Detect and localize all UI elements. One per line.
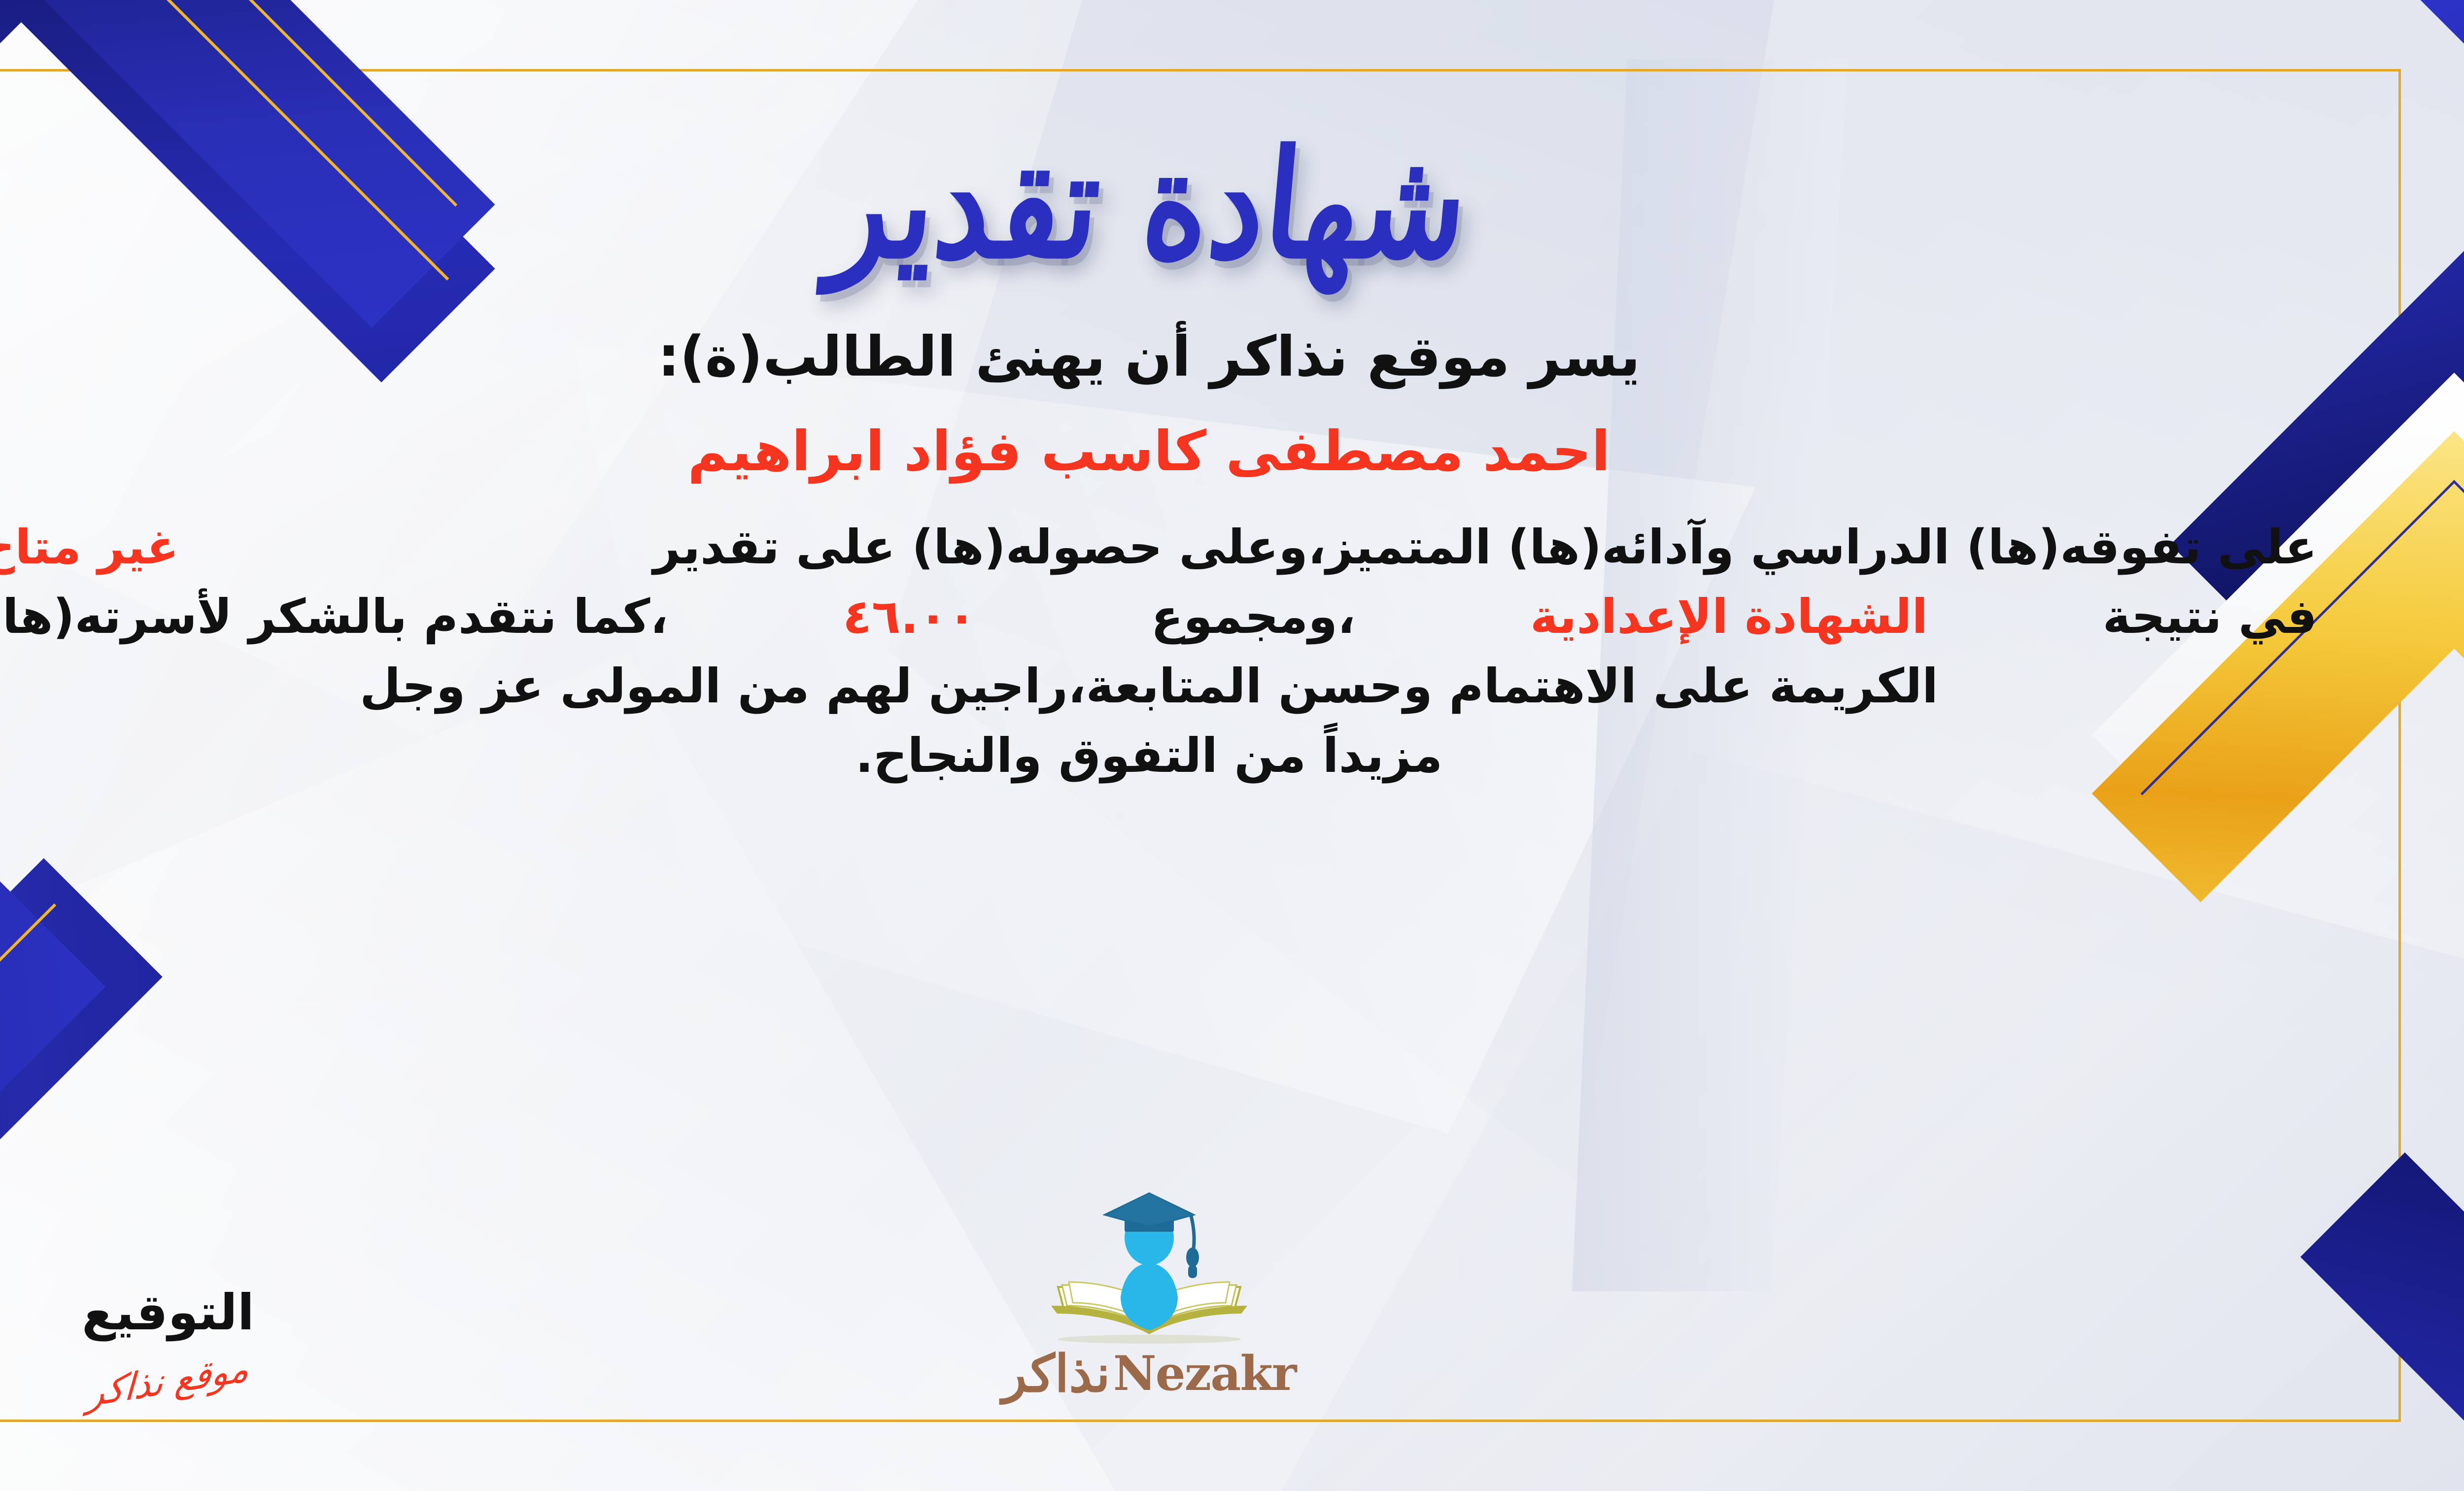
graduate-book-logo-icon [1033,1182,1265,1345]
brand-latin: Nezakr [1113,1350,1296,1397]
body-paragraph: على تفوقه(ها) الدراسي وآدائه(ها) المتميز… [0,513,2317,791]
certificate-page: شهادة تقدير يسر موقع نذاكر أن يهنئ الطال… [0,0,2464,1491]
certificate-footer: التوقيع موقع نذاكر [0,1182,2317,1422]
student-name: احمد مصطفى كاسب فؤاد ابراهيم [687,417,1610,486]
body-line-4: مزيداً من التفوق والنجاح. [0,721,2317,791]
title-area: شهادة تقدير [0,104,2317,306]
body-line-2: في نتيجة الشهادة الإعدادية ،ومجموع ٤٦.٠٠… [0,582,2317,652]
body-line-1-text: على تفوقه(ها) الدراسي وآدائه(ها) المتميز… [653,513,2317,582]
total-value: ٤٦.٠٠ [843,582,976,652]
result-prefix: في نتيجة [2103,582,2317,652]
page-title: شهادة تقدير [824,131,1473,279]
body-line-2-end: ،كما نتقدم بالشكر لأسرته(ها) [0,582,668,652]
brand-wordmark: Nezakr نذاكر [1002,1348,1296,1399]
total-label: ،ومجموع [1151,582,1356,652]
brand-logo: Nezakr نذاكر [972,1182,1327,1399]
signature-label: التوقيع [82,1288,254,1337]
signature-mark: موقع نذاكر [86,1350,250,1413]
certificate-content: شهادة تقدير يسر موقع نذاكر أن يهنئ الطال… [0,69,2401,1422]
exam-name: الشهادة الإعدادية [1530,582,1928,652]
body-line-1: على تفوقه(ها) الدراسي وآدائه(ها) المتميز… [0,513,2317,582]
body-line-3: الكريمة على الاهتمام وحسن المتابعة،راجين… [0,652,2317,721]
brand-arabic: نذاكر [1002,1348,1110,1399]
signature-block: التوقيع موقع نذاكر [0,1288,355,1399]
grade-value: غير متاح [0,513,179,582]
greeting-line: يسر موقع نذاكر أن يهنئ الطالب(ة): [658,322,1641,391]
